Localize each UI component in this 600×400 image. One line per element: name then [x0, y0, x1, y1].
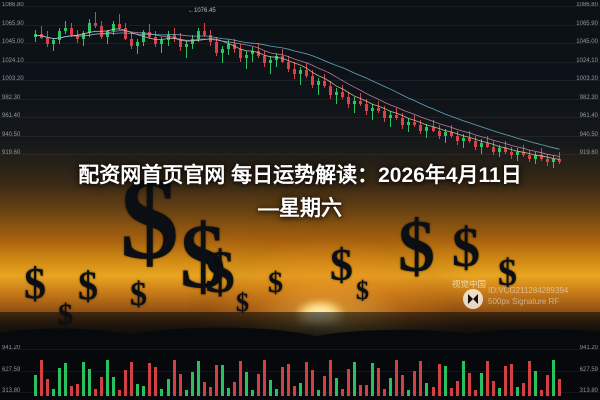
volume-bar [383, 389, 386, 396]
volume-bar [552, 360, 555, 396]
volume-bar [100, 377, 103, 396]
volume-bar [173, 360, 176, 396]
volume-bar [124, 370, 127, 396]
volume-bar [191, 372, 194, 396]
volume-bar [281, 367, 284, 396]
volume-bar [269, 380, 272, 396]
volume-bar [341, 389, 344, 396]
volume-bar [498, 388, 501, 396]
volume-bar [167, 379, 170, 396]
volume-bar [112, 377, 115, 396]
volume-bar [323, 376, 326, 396]
volume-bar [389, 378, 392, 396]
volume-bar [209, 387, 212, 396]
headline-line-1: 配资网首页官网 每日运势解读：2026年4月11日 [0, 160, 600, 193]
watermark-id: ID:VCG211284289394 [488, 285, 568, 296]
volume-bar [365, 385, 368, 396]
volume-axis-tick-left: 941.20 [2, 345, 20, 351]
volume-bar [136, 384, 139, 396]
volume-bar [353, 362, 356, 396]
volume-bar [438, 364, 441, 396]
volume-bar [371, 363, 374, 396]
volume-bar [347, 369, 350, 396]
volume-axis-tick-right: 941.20 [580, 345, 598, 351]
volume-axis-tick-right: 627.59 [580, 367, 598, 373]
volume-bar [46, 379, 49, 396]
volume-bar [70, 386, 73, 397]
volume-bar [106, 360, 109, 396]
volume-bar [52, 389, 55, 396]
volume-bar [425, 383, 428, 396]
headline-line-2: —星期六 [0, 193, 600, 226]
volume-bar [492, 381, 495, 396]
watermark-brand: 视觉中国 [452, 279, 486, 290]
volume-bar [504, 366, 507, 396]
volume-bar [395, 360, 398, 396]
volume-bar [299, 383, 302, 396]
volume-chart-bottom: 941.20941.20627.59627.59313.80313.80 [0, 345, 600, 400]
volume-bar [233, 382, 236, 397]
volume-bar [335, 378, 338, 396]
volume-bar [76, 384, 79, 396]
volume-bar [275, 389, 278, 397]
volume-bar [444, 366, 447, 396]
volume-bar [203, 382, 206, 396]
watermark-block: 视觉中国 ID:VCG211284289394 500px Signature … [460, 283, 590, 317]
volume-bar [474, 390, 477, 396]
volume-bar [239, 361, 242, 396]
volume-bar [377, 368, 380, 396]
moving-average-lines [0, 0, 600, 160]
volume-bar [251, 390, 254, 396]
watermark-signature: 500px Signature RF [488, 296, 559, 307]
volume-bar [82, 362, 85, 396]
volume-bar [245, 372, 248, 396]
volume-axis-tick-right: 313.80 [580, 388, 598, 394]
volume-bar [34, 375, 37, 396]
volume-bar [540, 390, 543, 396]
volume-axis-tick-left: 627.59 [2, 367, 20, 373]
volume-bar [462, 361, 465, 397]
volume-bar [287, 364, 290, 396]
volume-bar [130, 362, 133, 396]
volume-bar [197, 361, 200, 396]
volume-bar [263, 360, 266, 396]
volume-bar [215, 365, 218, 396]
volume-bar [480, 373, 483, 396]
volume-bar [359, 385, 362, 396]
volume-bar [305, 362, 308, 396]
volume-bar [88, 369, 91, 396]
image-canvas: 1086.801086.801065.901065.901045.001045.… [0, 0, 600, 400]
volume-bar [58, 368, 61, 396]
volume-bar [293, 386, 296, 396]
volume-bar [468, 373, 471, 396]
volume-bar [558, 379, 561, 396]
volume-bar [401, 375, 404, 396]
volume-bar [329, 360, 332, 396]
volume-bar [546, 375, 549, 396]
volume-bar [94, 389, 97, 396]
price-annotation: ←1076.45 [188, 8, 216, 14]
volume-bar [154, 367, 157, 396]
volume-bar [516, 387, 519, 396]
volume-bar [185, 390, 188, 396]
volume-bar [432, 387, 435, 396]
volume-bar [317, 390, 320, 396]
volume-bar [407, 390, 410, 396]
volume-bar [486, 361, 489, 397]
volume-bar [179, 374, 182, 396]
grid-line [0, 349, 600, 350]
volume-bar [311, 370, 314, 396]
volume-bar [419, 361, 422, 396]
candlestick-chart-top: 1086.801086.801065.901065.901045.001045.… [0, 0, 600, 160]
volume-bar [142, 386, 145, 396]
volume-bar [64, 363, 67, 396]
volume-bar [257, 374, 260, 396]
volume-bar [148, 363, 151, 396]
volume-bar [221, 365, 224, 396]
volume-axis-tick-left: 313.80 [2, 388, 20, 394]
volume-bar [118, 390, 121, 396]
volume-bar [456, 381, 459, 396]
volume-bar [534, 371, 537, 396]
volume-bar [510, 364, 513, 396]
headline-text: 配资网首页官网 每日运势解读：2026年4月11日 —星期六 [0, 160, 600, 225]
volume-bar [40, 360, 43, 396]
volume-bar [522, 383, 525, 396]
volume-bar [528, 361, 531, 396]
volume-bar [413, 371, 416, 396]
volume-bar [450, 388, 453, 396]
volume-bar [227, 388, 230, 396]
volume-bar [160, 389, 163, 396]
